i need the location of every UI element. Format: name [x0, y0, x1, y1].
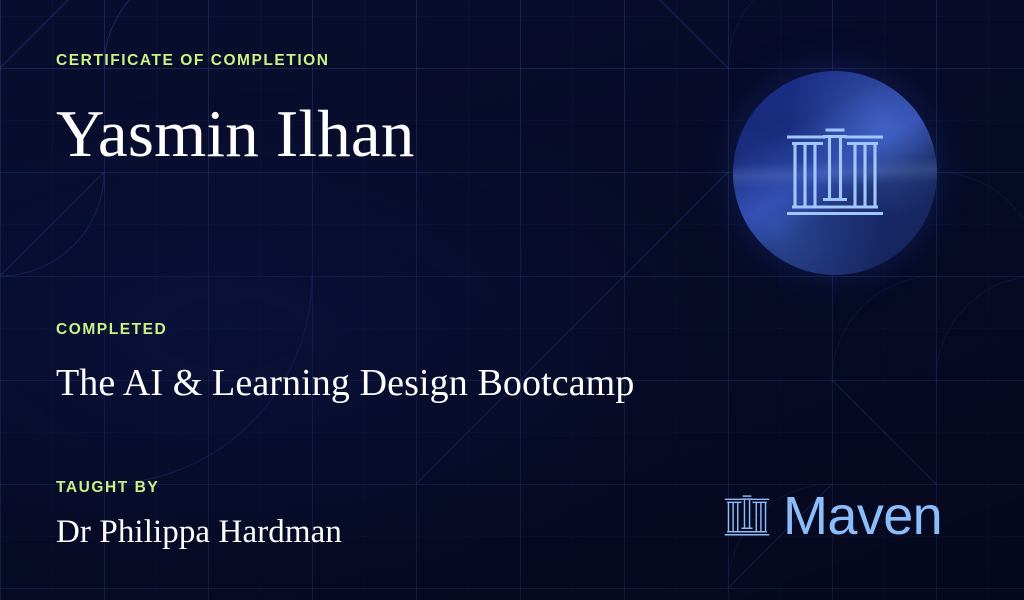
completed-eyebrow-label: COMPLETED — [56, 321, 634, 339]
maven-wordmark: Maven — [783, 489, 942, 543]
taught-by-eyebrow-label: TAUGHT BY — [56, 479, 342, 497]
instructor-block: TAUGHT BY Dr Philippa Hardman — [56, 479, 342, 549]
recipient-block: CERTIFICATE OF COMPLETION Yasmin Ilhan — [56, 52, 415, 168]
instructor-name: Dr Philippa Hardman — [56, 516, 342, 549]
maven-columns-icon — [722, 489, 772, 543]
certificate-seal-badge — [733, 71, 937, 275]
certificate-eyebrow-label: CERTIFICATE OF COMPLETION — [56, 52, 415, 70]
maven-logo-lockup: Maven — [722, 489, 942, 543]
recipient-name: Yasmin Ilhan — [56, 101, 415, 168]
maven-columns-icon — [781, 119, 889, 227]
course-block: COMPLETED The AI & Learning Design Bootc… — [56, 321, 634, 402]
certificate-card: CERTIFICATE OF COMPLETION Yasmin Ilhan C… — [0, 0, 1024, 600]
course-title: The AI & Learning Design Bootcamp — [56, 364, 634, 402]
